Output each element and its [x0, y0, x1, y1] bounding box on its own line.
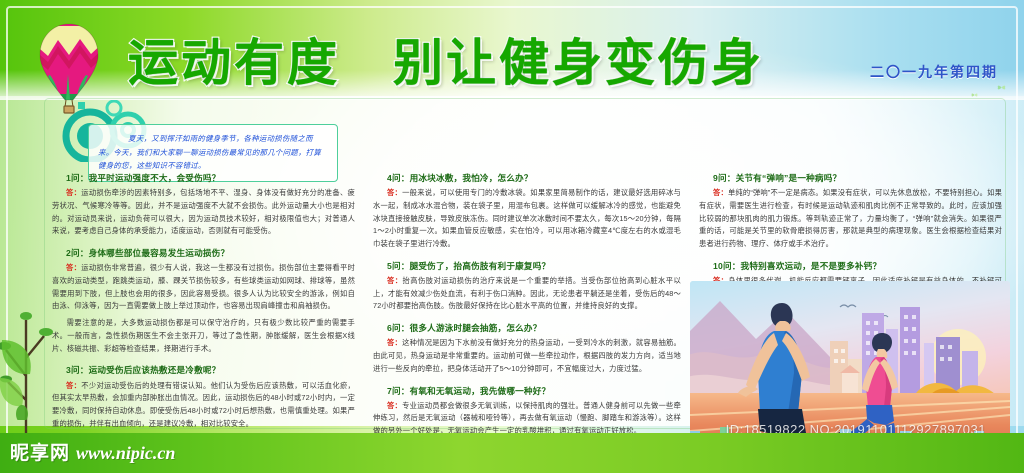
issue-label: 二〇一九年第四期	[870, 62, 998, 82]
question-heading: 7问：有氧和无氧运动，我先做哪一种好？	[387, 385, 681, 397]
qa-item: 5问：腿受伤了，抬高伤肢有利于康复吗？ 答：抬高伤肢对运动损伤的治疗来说是一个重…	[373, 260, 681, 313]
qa-item: 1问：我平时运动强度不大，会受伤吗？ 答：运动损伤牵涉的因素特别多，包括场地不平…	[52, 172, 355, 238]
answer-body: 单纯的“弹响”不一定是病态。如果没有症状，可以先休息放松，不要特别担心。如果有症…	[699, 188, 1002, 248]
answer-body: 这种情况是因为下水前没有做好充分的热身运动，一受到冷水的刺激，就容易抽筋。由此可…	[373, 338, 681, 373]
butterfly-icon	[997, 84, 1006, 91]
answer-body: 专业运动员都会做很多无氧训练，以保持肌肉的强壮。普通人健身前可以先做一些牵伸练习…	[373, 401, 681, 436]
answer-text: 答：这种情况是因为下水前没有做好充分的热身运动，一受到冷水的刺激，就容易抽筋。由…	[373, 337, 681, 375]
watermark-cn: 昵享网	[10, 438, 70, 465]
answer-body: 运动损伤牵涉的因素特别多，包括场地不平、湿身、身体没有做好充分的准备、疲劳状况、…	[52, 188, 355, 235]
qa-item: 2问：身体哪些部位最容易发生运动损伤？ 答：运动损伤非常普遍，很少有人说，我这一…	[52, 247, 355, 355]
question-heading: 5问：腿受伤了，抬高伤肢有利于康复吗？	[387, 260, 681, 272]
answer-label: 答：	[387, 276, 403, 285]
leaf-decoration-icon	[0, 330, 46, 420]
qa-item: 9问：关节有“弹响”是一种病吗？ 答：单纯的“弹响”不一定是病态。如果没有症状，…	[699, 172, 1002, 251]
answer-text: 答：单纯的“弹响”不一定是病态。如果没有症状，可以先休息放松，不要特别担心。如果…	[699, 187, 1002, 251]
poster-title-wrap: 运动有度 别让健身变伤身	[128, 26, 858, 92]
answer-body: 一般来说，可以使用专门的冷敷冰袋。如果家里简易制作的话，建议最好选用碎冰与水一起…	[373, 188, 681, 248]
question-heading: 3问：运动受伤后应该热敷还是冷敷呢？	[66, 364, 355, 376]
answer-text: 答：抬高伤肢对运动损伤的治疗来说是一个重要的举措。当受伤部位抬高到心脏水平以上，…	[373, 275, 681, 313]
watermark-url: www.nipic.cn	[76, 443, 175, 464]
question-heading: 10问：我特别喜欢运动，是不是要多补钙？	[713, 260, 1002, 272]
answer-label: 答：	[387, 338, 402, 347]
answer-text: 答：一般来说，可以使用专门的冷敷冰袋。如果家里简易制作的话，建议最好选用碎冰与水…	[373, 187, 681, 251]
question-heading: 2问：身体哪些部位最容易发生运动损伤？	[66, 247, 355, 259]
answer-label: 答：	[66, 263, 81, 272]
qa-item: 6问：很多人游泳时腿会抽筋，怎么办？ 答：这种情况是因为下水前没有做好充分的热身…	[373, 322, 681, 375]
poster-root: 运动有度 别让健身变伤身 二〇一九年第四期 夏天，又到挥汗如雨的健身季节，各种运…	[0, 0, 1024, 473]
answer-body: 抬高伤肢对运动损伤的治疗来说是一个重要的举措。当受伤部位抬高到心脏水平以上，才能…	[373, 276, 681, 311]
question-heading: 1问：我平时运动强度不大，会受伤吗？	[66, 172, 355, 184]
column-1: 1问：我平时运动强度不大，会受伤吗？ 答：运动损伤牵涉的因素特别多，包括场地不平…	[52, 172, 355, 473]
question-heading: 4问：用冰块冰敷，我怕冷，怎么办？	[387, 172, 681, 184]
answer-label: 答：	[713, 188, 728, 197]
intro-text: 夏天，又到挥汗如雨的健身季节，各种运动损伤随之而来。今天，我们和大家聊一聊运动损…	[98, 132, 328, 173]
footer-band: 昵享网 www.nipic.cn	[0, 433, 1024, 473]
answer-label: 答：	[66, 188, 81, 197]
answer-text: 答：运动损伤非常普遍，很少有人说，我这一生都没有过损伤。损伤部位主要得看平时喜欢…	[52, 262, 355, 355]
answer-label: 答：	[387, 401, 402, 410]
question-heading: 9问：关节有“弹响”是一种病吗？	[713, 172, 1002, 184]
answer-body: 不少对运动受伤后的处理有错误认知。他们认为受伤后应该热敷，可以活血化瘀，但其实太…	[52, 381, 355, 428]
qa-item: 4问：用冰块冰敷，我怕冷，怎么办？ 答：一般来说，可以使用专门的冷敷冰袋。如果家…	[373, 172, 681, 251]
site-watermark: 昵享网 www.nipic.cn	[10, 438, 175, 465]
question-heading: 6问：很多人游泳时腿会抽筋，怎么办？	[387, 322, 681, 334]
answer-body-2: 需要注意的是，大多数运动损伤都是可以保守治疗的，只有极少数比较严重的需要手术。一…	[52, 317, 355, 355]
qa-item: 3问：运动受伤后应该热敷还是冷敷呢？ 答：不少对运动受伤后的处理有错误认知。他们…	[52, 364, 355, 430]
answer-label: 答：	[387, 188, 402, 197]
answer-text: 答：不少对运动受伤后的处理有错误认知。他们认为受伤后应该热敷，可以活血化瘀，但其…	[52, 380, 355, 431]
answer-text: 答：运动损伤牵涉的因素特别多，包括场地不平、湿身、身体没有做好充分的准备、疲劳状…	[52, 187, 355, 238]
answer-body: 运动损伤非常普遍，很少有人说，我这一生都没有过损伤。损伤部位主要得看平时喜欢的运…	[52, 263, 355, 310]
page-title: 运动有度 别让健身变伤身	[128, 23, 764, 95]
column-2: 4问：用冰块冰敷，我怕冷，怎么办？ 答：一般来说，可以使用专门的冷敷冰袋。如果家…	[373, 172, 681, 473]
butterfly-icon	[971, 92, 978, 98]
